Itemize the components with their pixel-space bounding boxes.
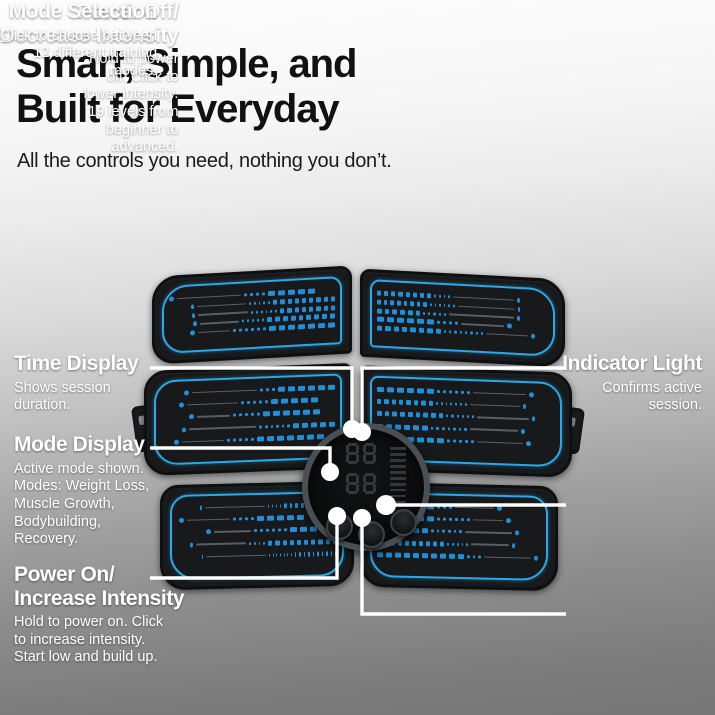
callout-body: Click to choose between12 different trai… bbox=[0, 28, 157, 81]
callout-title: Mode Selection bbox=[0, 0, 157, 24]
seg-digit bbox=[346, 473, 359, 494]
callout-mode-display: Mode Display Active mode shown.Modes: We… bbox=[14, 433, 224, 549]
callout-body: Hold to power on. Clickto increase inten… bbox=[14, 614, 229, 667]
circuit-traces bbox=[377, 289, 548, 348]
intensity-bar-indicator bbox=[390, 447, 406, 507]
callout-body: Shows sessionduration. bbox=[14, 380, 214, 415]
pad-panel-top-left bbox=[152, 265, 352, 364]
callout-mode-selection: Mode Selection Click to choose between12… bbox=[0, 0, 157, 81]
time-digits bbox=[346, 443, 376, 464]
circuit-trace bbox=[202, 551, 337, 559]
decrease-button[interactable] bbox=[326, 513, 353, 540]
callout-title: Indicator Light bbox=[487, 352, 702, 376]
seg-digit bbox=[346, 443, 359, 464]
callout-title: Time Display bbox=[14, 352, 214, 376]
circuit-trace bbox=[182, 421, 335, 432]
callout-indicator-light: Indicator Light Confirms activesession. bbox=[487, 352, 702, 415]
callout-time-display: Time Display Shows sessionduration. bbox=[14, 352, 214, 415]
mode-button[interactable] bbox=[358, 521, 385, 548]
lcd-display bbox=[340, 443, 404, 503]
callout-title: Mode Display bbox=[14, 433, 224, 457]
promo-graphic: Smart, Simple, and Built for Everyday Al… bbox=[0, 0, 715, 715]
callout-body: Confirms activesession. bbox=[487, 380, 702, 415]
callout-power-on: Power On/Increase Intensity Hold to powe… bbox=[14, 563, 229, 667]
circuit-trace bbox=[377, 552, 538, 561]
circuit-traces bbox=[169, 285, 335, 344]
control-hub[interactable] bbox=[302, 423, 430, 551]
seg-digit bbox=[363, 473, 376, 494]
increase-button[interactable] bbox=[390, 509, 417, 536]
callout-body: Active mode shown.Modes: Weight Loss,Mus… bbox=[14, 461, 224, 549]
seg-digit bbox=[363, 443, 376, 464]
callout-title: Power On/Increase Intensity bbox=[14, 563, 229, 610]
mode-digits bbox=[346, 473, 376, 494]
